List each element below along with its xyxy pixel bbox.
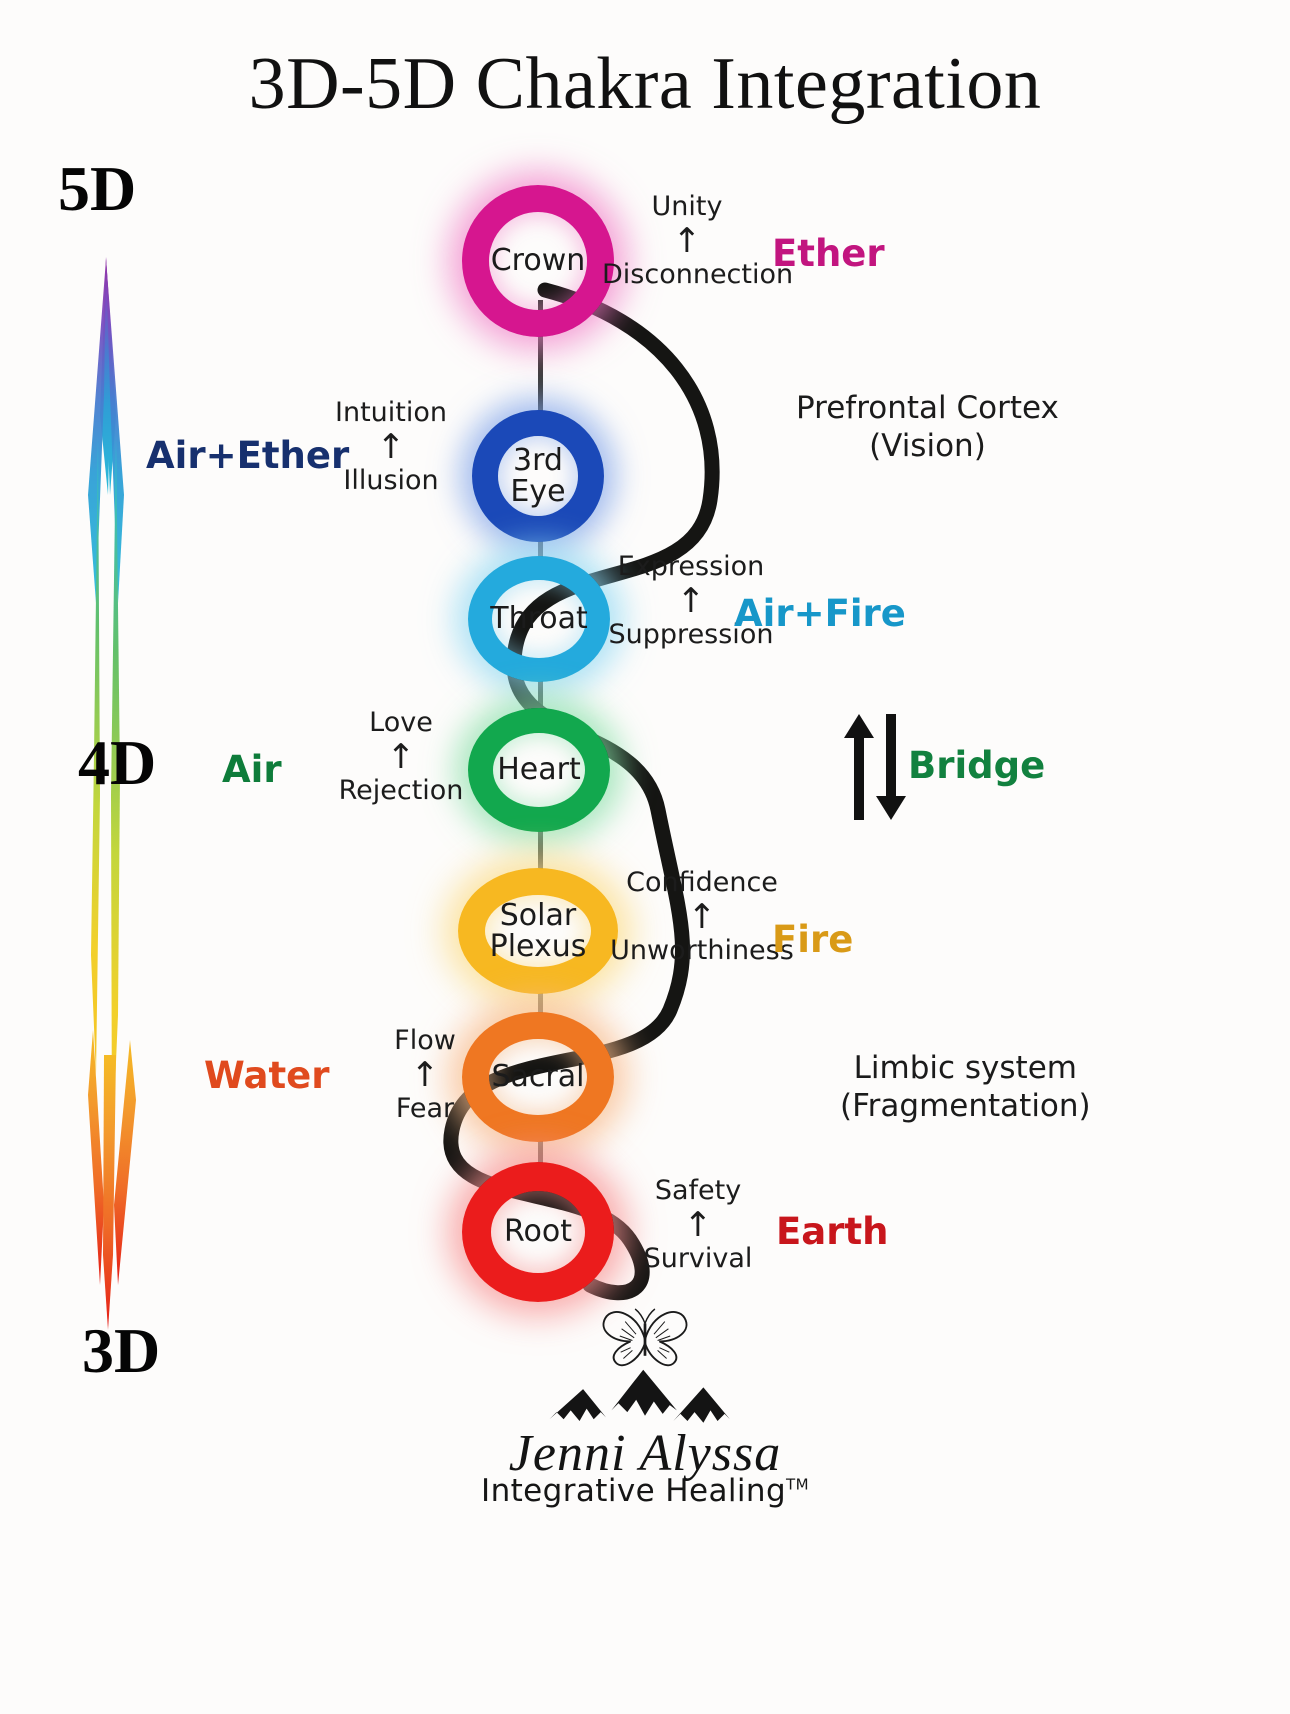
crown-positive: Unity <box>652 191 723 222</box>
element-label-fire: Fire <box>772 918 853 961</box>
pair-heart: Love ↑ Rejection <box>316 708 486 806</box>
chakra-throat-label: Throat <box>490 603 588 634</box>
element-label-air-ether: Air+Ether <box>146 434 349 477</box>
solar-plexus-negative: Unworthiness <box>610 935 794 966</box>
chakra-third-eye-label-line2: Eye <box>510 474 565 509</box>
throat-positive: Expression <box>618 551 765 582</box>
element-label-earth: Earth <box>776 1210 889 1253</box>
chakra-heart[interactable]: Heart <box>468 708 610 832</box>
solar-plexus-positive: Confidence <box>626 867 778 898</box>
heart-positive: Love <box>369 707 433 738</box>
up-arrow-icon: ↑ <box>618 1208 778 1242</box>
bridge-double-arrow-icon <box>838 712 910 822</box>
trademark-symbol: TM <box>786 1476 809 1494</box>
chakra-third-eye-label: 3rd Eye <box>510 445 565 507</box>
note-prefrontal-cortex-line2: (Vision) <box>869 428 986 464</box>
brand-tagline-text: Integrative Healing <box>481 1473 786 1509</box>
chakra-sacral-label: Sacral <box>492 1061 585 1092</box>
element-label-ether: Ether <box>772 232 885 275</box>
note-limbic-system-line1: Limbic system <box>854 1050 1077 1086</box>
third-eye-negative: Illusion <box>343 465 438 496</box>
third-eye-positive: Intuition <box>335 397 447 428</box>
chakra-throat[interactable]: Throat <box>468 556 610 682</box>
chakra-crown[interactable]: Crown <box>462 185 614 337</box>
chakra-third-eye-label-line1: 3rd <box>513 443 563 478</box>
note-limbic-system: Limbic system (Fragmentation) <box>840 1050 1091 1126</box>
brand-tagline: Integrative HealingTM <box>0 1473 1290 1509</box>
root-positive: Safety <box>655 1175 741 1206</box>
chakra-crown-label: Crown <box>491 245 586 276</box>
infographic-canvas: 3D-5D Chakra Integration <box>0 0 1290 1714</box>
note-prefrontal-cortex: Prefrontal Cortex (Vision) <box>796 390 1059 466</box>
pair-crown: Unity ↑ Disconnection <box>602 192 772 290</box>
heart-negative: Rejection <box>339 775 464 806</box>
chakra-solar-plexus-label-line2: Plexus <box>490 929 587 964</box>
note-prefrontal-cortex-line1: Prefrontal Cortex <box>796 390 1059 426</box>
chakra-root-label: Root <box>504 1216 572 1247</box>
root-negative: Survival <box>644 1243 753 1274</box>
butterfly-icon <box>591 1300 699 1372</box>
chakra-solar-plexus-label-line1: Solar <box>500 898 576 933</box>
chakra-root[interactable]: Root <box>462 1162 614 1302</box>
pair-sacral: Flow ↑ Fear <box>360 1026 490 1124</box>
note-limbic-system-line2: (Fragmentation) <box>840 1088 1091 1124</box>
chakra-solar-plexus-label: Solar Plexus <box>490 900 587 962</box>
element-label-air-fire: Air+Fire <box>734 592 906 635</box>
bridge-label: Bridge <box>908 744 1045 787</box>
chakra-solar-plexus[interactable]: Solar Plexus <box>458 868 618 994</box>
crown-negative: Disconnection <box>602 259 793 290</box>
element-label-air: Air <box>222 748 282 791</box>
up-arrow-icon: ↑ <box>316 740 486 774</box>
up-arrow-icon: ↑ <box>602 224 772 258</box>
up-arrow-icon: ↑ <box>360 1058 490 1092</box>
brand-logo-block: Jenni Alyssa Integrative HealingTM <box>0 1300 1290 1509</box>
pair-root: Safety ↑ Survival <box>618 1176 778 1274</box>
element-label-water: Water <box>204 1054 330 1097</box>
sacral-positive: Flow <box>394 1025 456 1056</box>
mountain-icon <box>530 1366 760 1430</box>
chakra-heart-label: Heart <box>497 754 581 785</box>
chakra-third-eye[interactable]: 3rd Eye <box>472 410 604 542</box>
sacral-negative: Fear <box>396 1093 454 1124</box>
